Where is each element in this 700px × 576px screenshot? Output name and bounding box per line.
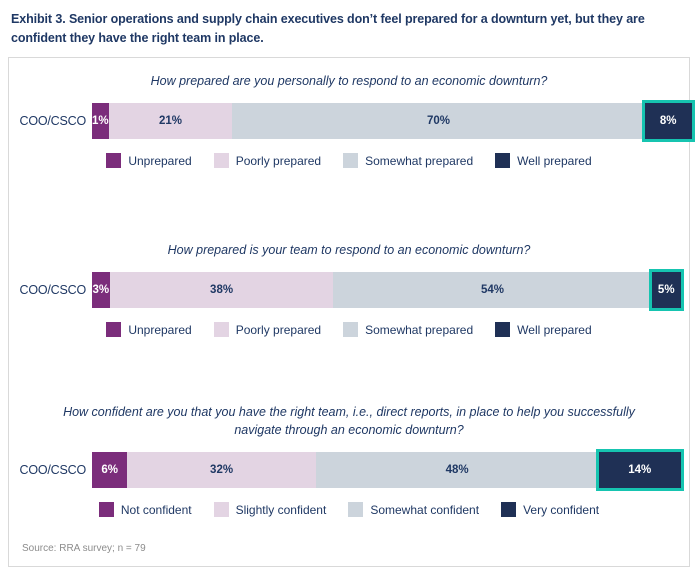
legend-item-poorly-prepared[interactable]: Poorly prepared [214, 322, 321, 337]
legend-item-very-confident[interactable]: Very confident [501, 502, 599, 517]
bar-segment-somewhat-prepared: 70% [232, 103, 644, 139]
chart-title-2: How prepared is your team to respond to … [9, 241, 689, 259]
legend-item-not-confident[interactable]: Not confident [99, 502, 192, 517]
row-label-2: COO/CSCO [9, 283, 92, 297]
legend-swatch-icon [106, 322, 121, 337]
chart-title-1: How prepared are you personally to respo… [9, 72, 689, 90]
legend-swatch-icon [495, 322, 510, 337]
bar-segment-well-prepared: 5% [652, 272, 681, 308]
legend-label: Poorly prepared [236, 323, 321, 337]
legend-swatch-icon [343, 153, 358, 168]
legend-swatch-icon [501, 502, 516, 517]
legend-1: UnpreparedPoorly preparedSomewhat prepar… [9, 153, 689, 168]
legend-item-somewhat-prepared[interactable]: Somewhat prepared [343, 153, 473, 168]
row-label-3: COO/CSCO [9, 463, 92, 477]
chart-block-3: How confident are you that you have the … [9, 403, 689, 517]
chart-title-3: How confident are you that you have the … [9, 403, 689, 439]
legend-label: Poorly prepared [236, 154, 321, 168]
legend-label: Well prepared [517, 323, 591, 337]
legend-item-well-prepared[interactable]: Well prepared [495, 153, 591, 168]
bar-segment-poorly-prepared: 21% [109, 103, 233, 139]
legend-label: Unprepared [128, 323, 191, 337]
bar-segment-somewhat-prepared: 54% [333, 272, 651, 308]
bar-segment-poorly-prepared: 38% [110, 272, 334, 308]
legend-item-somewhat-confident[interactable]: Somewhat confident [348, 502, 479, 517]
chart-block-2: How prepared is your team to respond to … [9, 241, 689, 337]
bar-segment-unprepared: 3% [92, 272, 110, 308]
legend-item-slightly-confident[interactable]: Slightly confident [214, 502, 327, 517]
legend-2: UnpreparedPoorly preparedSomewhat prepar… [9, 322, 689, 337]
source-note: Source: RRA survey; n = 79 [22, 543, 146, 554]
legend-label: Slightly confident [236, 503, 327, 517]
legend-label: Somewhat confident [370, 503, 479, 517]
legend-item-poorly-prepared[interactable]: Poorly prepared [214, 153, 321, 168]
legend-swatch-icon [99, 502, 114, 517]
legend-item-well-prepared[interactable]: Well prepared [495, 322, 591, 337]
legend-swatch-icon [214, 322, 229, 337]
stacked-bar-2: 3%38%54%5% [92, 272, 681, 308]
legend-label: Well prepared [517, 154, 591, 168]
legend-swatch-icon [214, 502, 229, 517]
legend-swatch-icon [343, 322, 358, 337]
bar-row-2: COO/CSCO 3%38%54%5% [9, 272, 689, 308]
legend-item-somewhat-prepared[interactable]: Somewhat prepared [343, 322, 473, 337]
legend-label: Somewhat prepared [365, 323, 473, 337]
stacked-bar-1: 1%21%70%8% [92, 103, 681, 139]
chart-block-1: How prepared are you personally to respo… [9, 72, 689, 168]
exhibit-card: How prepared are you personally to respo… [8, 57, 690, 567]
legend-item-unprepared[interactable]: Unprepared [106, 322, 191, 337]
legend-swatch-icon [348, 502, 363, 517]
legend-swatch-icon [495, 153, 510, 168]
bar-segment-well-prepared: 8% [645, 103, 692, 139]
bar-segment-somewhat-confident: 48% [316, 452, 599, 488]
bar-segment-very-confident: 14% [599, 452, 681, 488]
bar-segment-not-confident: 6% [92, 452, 127, 488]
legend-label: Very confident [523, 503, 599, 517]
legend-3: Not confidentSlightly confidentSomewhat … [9, 502, 689, 517]
legend-label: Unprepared [128, 154, 191, 168]
bar-segment-unprepared: 1% [92, 103, 109, 139]
exhibit-title: Exhibit 3. Senior operations and supply … [0, 0, 700, 49]
bar-segment-slightly-confident: 32% [127, 452, 315, 488]
bar-row-1: COO/CSCO 1%21%70%8% [9, 103, 689, 139]
bar-row-3: COO/CSCO 6%32%48%14% [9, 452, 689, 488]
legend-swatch-icon [106, 153, 121, 168]
stacked-bar-3: 6%32%48%14% [92, 452, 681, 488]
legend-item-unprepared[interactable]: Unprepared [106, 153, 191, 168]
legend-label: Somewhat prepared [365, 154, 473, 168]
legend-label: Not confident [121, 503, 192, 517]
legend-swatch-icon [214, 153, 229, 168]
row-label-1: COO/CSCO [9, 114, 92, 128]
